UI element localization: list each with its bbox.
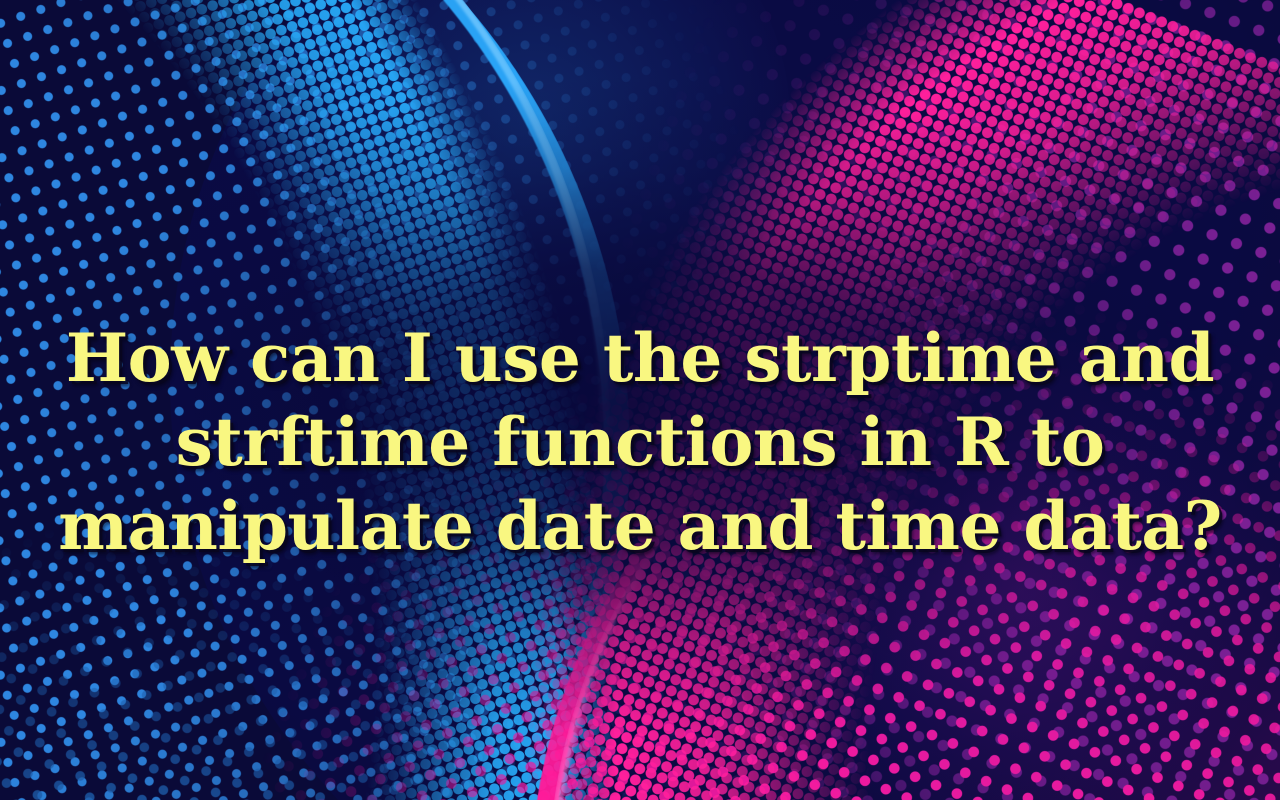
article-header-banner: How can I use the strptime and strftime … [0, 0, 1280, 800]
page-title: How can I use the strptime and strftime … [0, 316, 1280, 568]
headline-line-1: How can I use the strptime and [24, 316, 1256, 400]
headline-line-3: manipulate date and time data? [24, 484, 1256, 568]
headline-line-2: strftime functions in R to [24, 400, 1256, 484]
